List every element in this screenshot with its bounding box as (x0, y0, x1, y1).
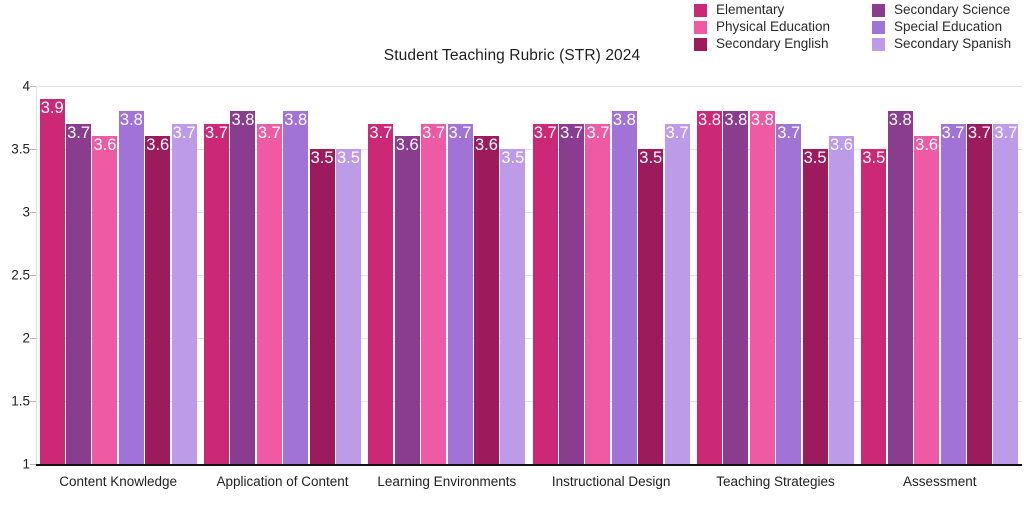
x-axis-labels: Content KnowledgeApplication of ContentL… (36, 470, 1022, 494)
bar-value-label: 3.7 (560, 125, 583, 142)
bar[interactable]: 3.8 (888, 111, 913, 464)
bar[interactable]: 3.8 (697, 111, 722, 464)
bar-value-label: 3.6 (94, 137, 117, 154)
bar-slot: 3.7 (420, 86, 446, 464)
bar-value-label: 3.7 (205, 125, 228, 142)
bar[interactable]: 3.7 (172, 124, 197, 464)
bar[interactable]: 3.6 (829, 136, 854, 464)
bar[interactable]: 3.5 (803, 149, 828, 464)
x-axis-line (36, 464, 1022, 466)
bar-slot: 3.6 (828, 86, 854, 464)
bar-value-label: 3.7 (173, 125, 196, 142)
bar-slot: 3.7 (966, 86, 992, 464)
bar[interactable]: 3.7 (448, 124, 473, 464)
y-axis-tick-label: 3 (4, 205, 30, 220)
bar-value-label: 3.8 (231, 112, 254, 129)
bar-value-label: 3.5 (862, 150, 885, 167)
bar-slot: 3.9 (39, 86, 65, 464)
y-axis-tick-label: 1 (4, 457, 30, 472)
x-axis-tick-label: Application of Content (200, 470, 364, 494)
bar-group: 3.73.63.73.73.63.5 (365, 86, 529, 464)
bar[interactable]: 3.8 (750, 111, 775, 464)
x-axis-tick-label: Assessment (858, 470, 1022, 494)
bar[interactable]: 3.9 (40, 99, 65, 464)
y-axis-tick-label: 2 (4, 331, 30, 346)
bar[interactable]: 3.6 (914, 136, 939, 464)
y-axis-labels: 43.532.521.51 (0, 86, 30, 464)
bar[interactable]: 3.7 (204, 124, 229, 464)
bar-value-label: 3.8 (698, 112, 721, 129)
bar-value-label: 3.7 (422, 125, 445, 142)
bar-groups: 3.93.73.63.83.63.73.73.83.73.83.53.53.73… (36, 86, 1022, 464)
bar[interactable]: 3.6 (395, 136, 420, 464)
bar-value-label: 3.8 (613, 112, 636, 129)
bar-value-label: 3.5 (639, 150, 662, 167)
bar-slot: 3.7 (447, 86, 473, 464)
bar-slot: 3.7 (203, 86, 229, 464)
bar[interactable]: 3.5 (336, 149, 361, 464)
bar-group: 3.83.83.83.73.53.6 (693, 86, 857, 464)
legend-swatch-icon (872, 21, 885, 34)
bar-value-label: 3.6 (146, 137, 169, 154)
bar-slot: 3.7 (664, 86, 690, 464)
bar-value-label: 3.7 (666, 125, 689, 142)
x-axis-tick-label: Teaching Strategies (693, 470, 857, 494)
x-axis-tick-label: Learning Environments (365, 470, 529, 494)
bar-value-label: 3.7 (777, 125, 800, 142)
bar[interactable]: 3.7 (421, 124, 446, 464)
bar-value-label: 3.8 (120, 112, 143, 129)
bar-slot: 3.6 (473, 86, 499, 464)
bar-slot: 3.5 (500, 86, 526, 464)
bar[interactable]: 3.7 (559, 124, 584, 464)
bar-slot: 3.7 (532, 86, 558, 464)
bar-slot: 3.7 (940, 86, 966, 464)
bar[interactable]: 3.8 (723, 111, 748, 464)
bar-value-label: 3.5 (804, 150, 827, 167)
bar[interactable]: 3.7 (665, 124, 690, 464)
bar-value-label: 3.8 (284, 112, 307, 129)
bar-slot: 3.7 (993, 86, 1019, 464)
bar-slot: 3.6 (92, 86, 118, 464)
y-axis-tick-label: 3.5 (4, 142, 30, 157)
y-axis-tick-label: 1.5 (4, 394, 30, 409)
bar-slot: 3.6 (145, 86, 171, 464)
bar-slot: 3.8 (611, 86, 637, 464)
chart-legend: ElementarySecondary SciencePhysical Educ… (694, 2, 1024, 52)
y-axis-tick-label: 4 (4, 79, 30, 94)
bar-value-label: 3.7 (534, 125, 557, 142)
legend-label: Elementary (716, 2, 784, 18)
bar-slot: 3.5 (335, 86, 361, 464)
bar-slot: 3.8 (230, 86, 256, 464)
bar-value-label: 3.7 (369, 125, 392, 142)
bar[interactable]: 3.8 (283, 111, 308, 464)
bar-slot: 3.5 (309, 86, 335, 464)
x-axis-tick-label: Instructional Design (529, 470, 693, 494)
x-axis-tick-label: Content Knowledge (36, 470, 200, 494)
bar[interactable]: 3.7 (257, 124, 282, 464)
bar[interactable]: 3.7 (967, 124, 992, 464)
bar-slot: 3.5 (638, 86, 664, 464)
bar-value-label: 3.8 (889, 112, 912, 129)
plot-area: 3.93.73.63.83.63.73.73.83.73.83.53.53.73… (0, 78, 1024, 470)
bar-slot: 3.8 (723, 86, 749, 464)
bar[interactable]: 3.6 (474, 136, 499, 464)
bar-value-label: 3.7 (449, 125, 472, 142)
bar-value-label: 3.6 (396, 137, 419, 154)
bar-value-label: 3.8 (751, 112, 774, 129)
y-tick-mark (30, 464, 36, 465)
bar-value-label: 3.6 (915, 137, 938, 154)
bar[interactable]: 3.5 (310, 149, 335, 464)
bar[interactable]: 3.7 (368, 124, 393, 464)
bar-value-label: 3.6 (475, 137, 498, 154)
bar[interactable]: 3.8 (230, 111, 255, 464)
bar[interactable]: 3.7 (941, 124, 966, 464)
bar-slot: 3.7 (171, 86, 197, 464)
bar-slot: 3.7 (775, 86, 801, 464)
legend-label: Physical Education (716, 19, 830, 35)
bar-value-label: 3.7 (942, 125, 965, 142)
bar-slot: 3.7 (558, 86, 584, 464)
bar[interactable]: 3.7 (993, 124, 1018, 464)
bar-value-label: 3.7 (67, 125, 90, 142)
bar-value-label: 3.7 (586, 125, 609, 142)
bar-value-label: 3.5 (337, 150, 360, 167)
bar[interactable]: 3.8 (612, 111, 637, 464)
bar[interactable]: 3.8 (119, 111, 144, 464)
bar-value-label: 3.5 (501, 150, 524, 167)
bar-slot: 3.8 (749, 86, 775, 464)
bar-value-label: 3.9 (41, 100, 64, 117)
bar-slot: 3.7 (256, 86, 282, 464)
chart-title: Student Teaching Rubric (STR) 2024 (0, 47, 1024, 65)
y-axis-tick-label: 2.5 (4, 268, 30, 283)
bar-chart: ElementarySecondary SciencePhysical Educ… (0, 0, 1024, 532)
bar[interactable]: 3.5 (861, 149, 886, 464)
bar[interactable]: 3.7 (533, 124, 558, 464)
bar-slot: 3.6 (394, 86, 420, 464)
bar[interactable]: 3.5 (638, 149, 663, 464)
legend-swatch-icon (872, 4, 885, 17)
legend-swatch-icon (694, 21, 707, 34)
bar[interactable]: 3.6 (145, 136, 170, 464)
bar-slot: 3.5 (861, 86, 887, 464)
legend-item-physical-education[interactable]: Physical Education (694, 19, 872, 35)
bar-slot: 3.8 (283, 86, 309, 464)
bar[interactable]: 3.6 (92, 136, 117, 464)
legend-label: Special Education (894, 19, 1002, 35)
bar-value-label: 3.7 (994, 125, 1017, 142)
bar-slot: 3.7 (368, 86, 394, 464)
bar[interactable]: 3.7 (776, 124, 801, 464)
bar-group: 3.53.83.63.73.73.7 (858, 86, 1022, 464)
bar-group: 3.73.83.73.83.53.5 (200, 86, 364, 464)
bar-slot: 3.7 (65, 86, 91, 464)
bar-slot: 3.6 (913, 86, 939, 464)
bar[interactable]: 3.5 (500, 149, 525, 464)
legend-swatch-icon (694, 4, 707, 17)
bar[interactable]: 3.7 (66, 124, 91, 464)
bar[interactable]: 3.7 (585, 124, 610, 464)
legend-item-elementary[interactable]: Elementary (694, 2, 872, 18)
bar-group: 3.73.73.73.83.53.7 (529, 86, 693, 464)
bar-value-label: 3.8 (724, 112, 747, 129)
bar-group: 3.93.73.63.83.63.7 (36, 86, 200, 464)
bar-value-label: 3.6 (830, 137, 853, 154)
legend-item-secondary-science[interactable]: Secondary Science (872, 2, 1024, 18)
bar-value-label: 3.7 (258, 125, 281, 142)
bar-slot: 3.8 (887, 86, 913, 464)
bar-slot: 3.8 (118, 86, 144, 464)
bar-value-label: 3.5 (311, 150, 334, 167)
bar-slot: 3.5 (802, 86, 828, 464)
bar-value-label: 3.7 (968, 125, 991, 142)
bar-slot: 3.7 (585, 86, 611, 464)
bar-slot: 3.8 (696, 86, 722, 464)
legend-item-special-education[interactable]: Special Education (872, 19, 1024, 35)
legend-label: Secondary Science (894, 2, 1010, 18)
